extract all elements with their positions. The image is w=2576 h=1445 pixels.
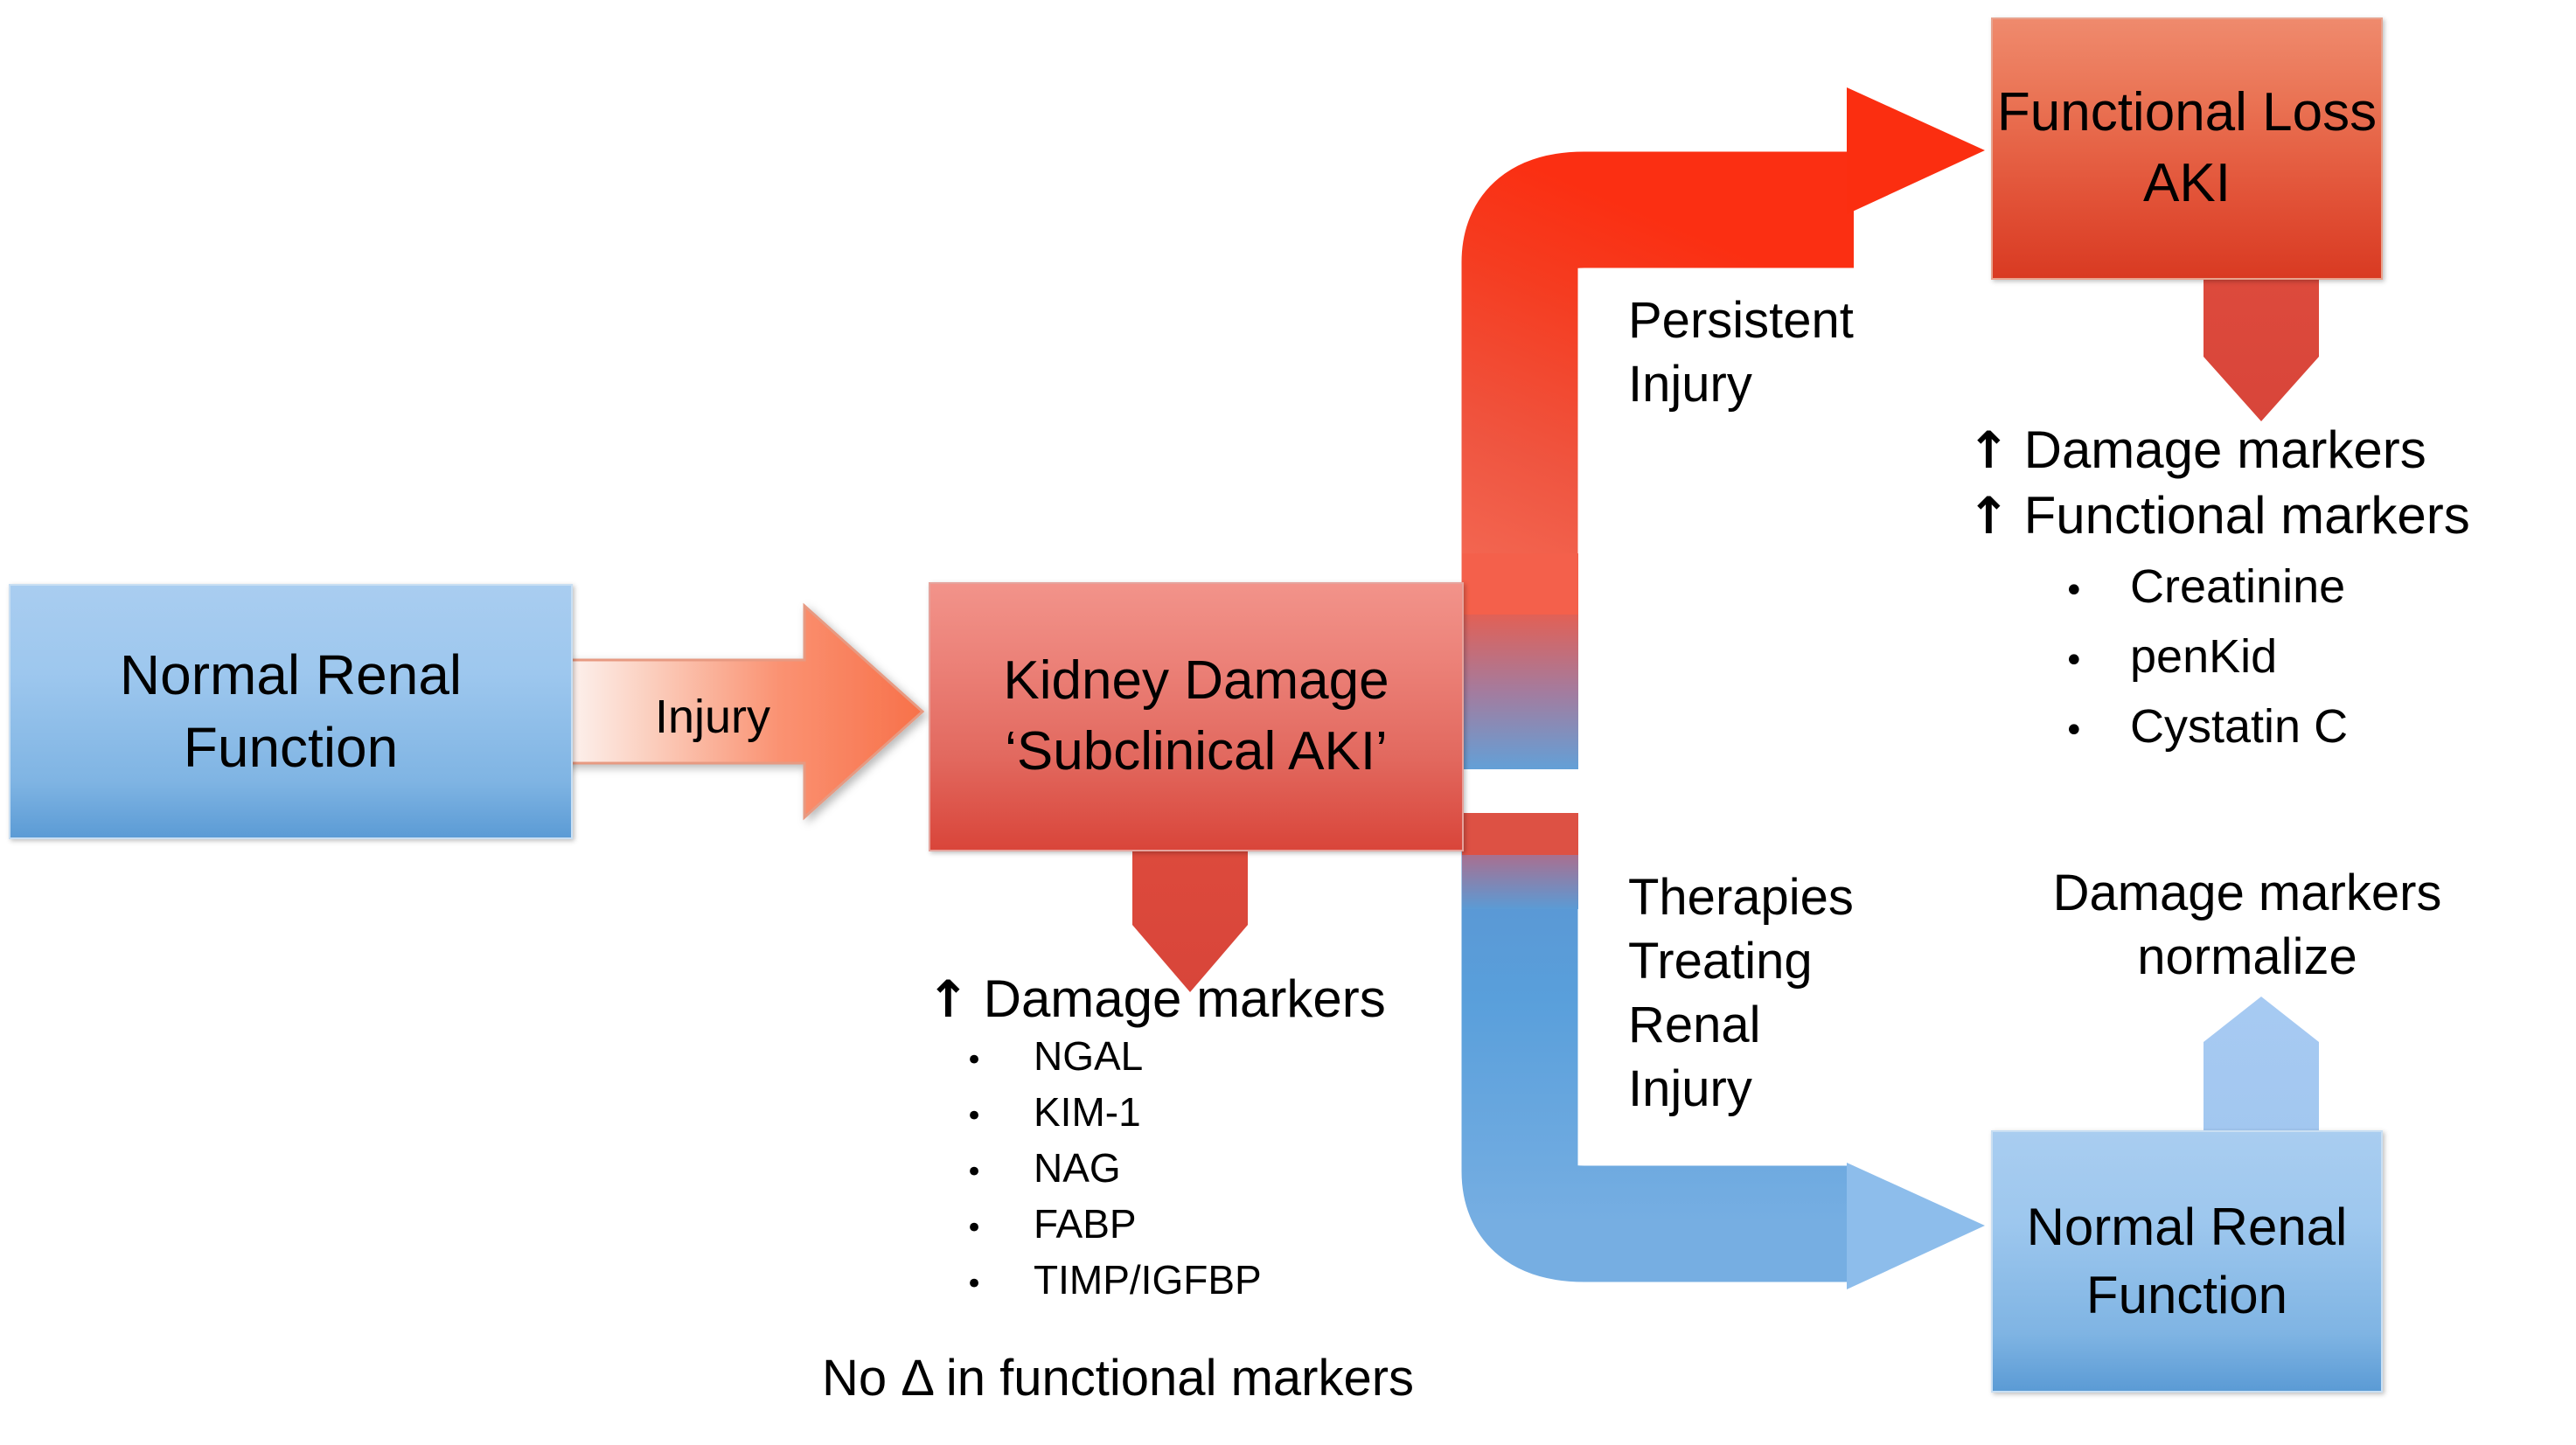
subclinical-bullet-label: NGAL	[1034, 1032, 1143, 1080]
subclinical-bullet-list: • NGAL • KIM-1 • NAG • FABP • TIMP/IGFBP	[927, 1032, 1714, 1303]
recovery-annotation-line1: Damage markers	[2002, 861, 2492, 925]
bullet-icon: •	[2064, 573, 2130, 608]
list-item: • NGAL	[965, 1032, 1714, 1080]
aki-functional-markers-label: Functional markers	[2024, 485, 2470, 545]
recovery-box-line2: Function	[2086, 1261, 2287, 1330]
aki-down-arrow	[2204, 278, 2319, 421]
start-box-line2: Function	[184, 712, 398, 784]
node-kidney-damage-subclinical-aki[interactable]: Kidney Damage ‘Subclinical AKI’	[929, 582, 1464, 851]
subclinical-damage-markers-label: Damage markers	[984, 969, 1386, 1029]
aki-box-line2: AKI	[2143, 149, 2231, 219]
bullet-icon: •	[965, 1046, 1034, 1075]
aki-box-line1: Functional Loss	[1997, 78, 2377, 149]
recovery-box-line1: Normal Renal	[2027, 1193, 2348, 1261]
node-functional-loss-aki[interactable]: Functional Loss AKI	[1991, 17, 2383, 280]
bullet-icon: •	[965, 1269, 1034, 1299]
subclinical-bullet-label: TIMP/IGFBP	[1034, 1256, 1262, 1303]
no-change-functional-markers-note: No Δ in functional markers	[822, 1346, 1414, 1410]
damage-box-line1: Kidney Damage	[1003, 646, 1389, 717]
subclinical-bullet-label: FABP	[1034, 1200, 1137, 1247]
damage-box-line2: ‘Subclinical AKI’	[1005, 717, 1388, 788]
aki-marker-annotations: ↑ Damage markers ↑ Functional markers • …	[1967, 420, 2576, 754]
list-item: • KIM-1	[965, 1088, 1714, 1136]
bullet-icon: •	[2064, 643, 2130, 678]
recovery-annotation-line2: normalize	[2002, 925, 2492, 989]
aki-bullet-label: Cystatin C	[2130, 699, 2348, 754]
subclinical-bullet-label: NAG	[1034, 1144, 1121, 1191]
diagram-canvas: Normal Renal Function Injury Kidney Dama…	[0, 0, 2576, 1445]
aki-bullet-list: • Creatinine • penKid • Cystatin C	[1967, 559, 2576, 754]
list-item: • Creatinine	[2064, 559, 2576, 614]
list-item: • penKid	[2064, 629, 2576, 684]
aki-damage-markers-row: ↑ Damage markers	[1967, 420, 2576, 480]
list-item: • TIMP/IGFBP	[965, 1256, 1714, 1303]
injury-arrow-label: Injury	[612, 687, 813, 747]
up-arrow-icon: ↑	[1967, 425, 2010, 476]
subclinical-marker-annotations: ↑ Damage markers • NGAL • KIM-1 • NAG • …	[927, 969, 1714, 1303]
start-box-line1: Normal Renal	[120, 639, 462, 712]
bullet-icon: •	[965, 1213, 1034, 1243]
bullet-icon: •	[965, 1101, 1034, 1131]
subclinical-bullet-label: KIM-1	[1034, 1088, 1141, 1136]
list-item: • NAG	[965, 1144, 1714, 1191]
node-normal-renal-function-recovery[interactable]: Normal Renal Function	[1991, 1130, 2383, 1393]
recovery-up-arrow	[2204, 997, 2319, 1136]
bullet-icon: •	[965, 1157, 1034, 1187]
persistent-injury-line1: Persistent	[1628, 288, 1943, 352]
up-arrow-icon: ↑	[1967, 490, 2010, 541]
list-item: • FABP	[965, 1200, 1714, 1247]
list-item: • Cystatin C	[2064, 699, 2576, 754]
subclinical-damage-markers-row: ↑ Damage markers	[927, 969, 1714, 1029]
aki-damage-markers-label: Damage markers	[2024, 420, 2426, 480]
therapies-line1: Therapies	[1628, 865, 1925, 929]
edge-label-persistent-injury: Persistent Injury	[1628, 288, 1943, 416]
persistent-injury-arrow	[1462, 87, 1985, 769]
persistent-injury-line2: Injury	[1628, 352, 1943, 416]
aki-functional-markers-row: ↑ Functional markers	[1967, 485, 2576, 545]
recovery-annotation: Damage markers normalize	[2002, 861, 2492, 989]
aki-bullet-label: penKid	[2130, 629, 2277, 684]
up-arrow-icon: ↑	[927, 974, 970, 1025]
node-normal-renal-function-start[interactable]: Normal Renal Function	[9, 584, 573, 839]
aki-bullet-label: Creatinine	[2130, 559, 2345, 614]
bullet-icon: •	[2064, 713, 2130, 748]
